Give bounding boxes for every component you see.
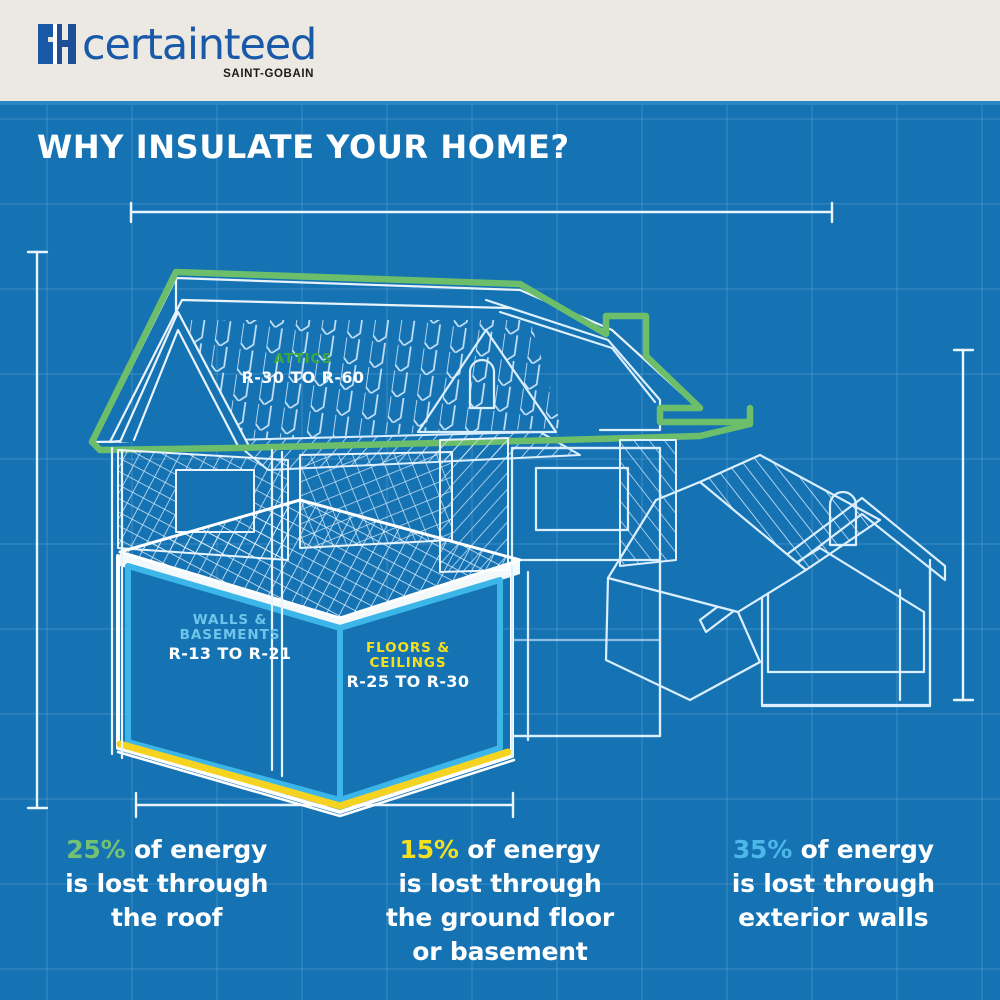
callout-walls-basements: WALLS & BASEMENTS R-13 TO R-21 [140,613,320,663]
stat-ground-line2: is lost through [347,867,652,901]
stat-walls-line2: is lost through [681,867,986,901]
stat-roof-line2: is lost through [14,867,319,901]
stat-ground-line1: of energy [467,835,600,864]
stat-roof-percent: 25% [66,835,125,864]
stat-roof-line3: the roof [14,901,319,935]
stat-walls-line3: exterior walls [681,901,986,935]
callout-attics-category: ATTICS [218,352,388,367]
stat-walls-line1: of energy [801,835,934,864]
callout-floors-ceilings: FLOORS & CEILINGS R-25 TO R-30 [318,641,498,691]
stat-roof: 25% of energy is lost through the roof [0,833,333,969]
energy-loss-stats: 25% of energy is lost through the roof 1… [0,833,1000,969]
stat-ground-line3: the ground floor [347,901,652,935]
callout-attics: ATTICS R-30 TO R-60 [218,352,388,387]
right-lower-framing [512,560,660,756]
callout-walls-category-line2: BASEMENTS [140,628,320,643]
callout-attics-rvalue: R-30 TO R-60 [218,369,388,387]
callout-floors-category-line1: FLOORS & [318,641,498,656]
stat-roof-line1: of energy [134,835,267,864]
callout-floors-rvalue: R-25 TO R-30 [318,673,498,691]
stat-exterior-walls: 35% of energy is lost through exterior w… [667,833,1000,969]
stat-ground-percent: 15% [400,835,459,864]
right-height-dimension [954,350,973,700]
callout-floors-category-line2: CEILINGS [318,656,498,671]
callout-walls-category-line1: WALLS & [140,613,320,628]
infographic-canvas: certainteed SAINT-GOBAIN WHY INSULATE YO… [0,0,1000,1000]
callout-walls-rvalue: R-13 TO R-21 [140,645,320,663]
right-wall-hatch [620,440,676,566]
stat-ground-floor: 15% of energy is lost through the ground… [333,833,666,969]
stat-walls-percent: 35% [733,835,792,864]
stat-ground-line4: or basement [347,935,652,969]
top-width-dimension [131,203,832,222]
left-height-dimension [28,252,47,808]
